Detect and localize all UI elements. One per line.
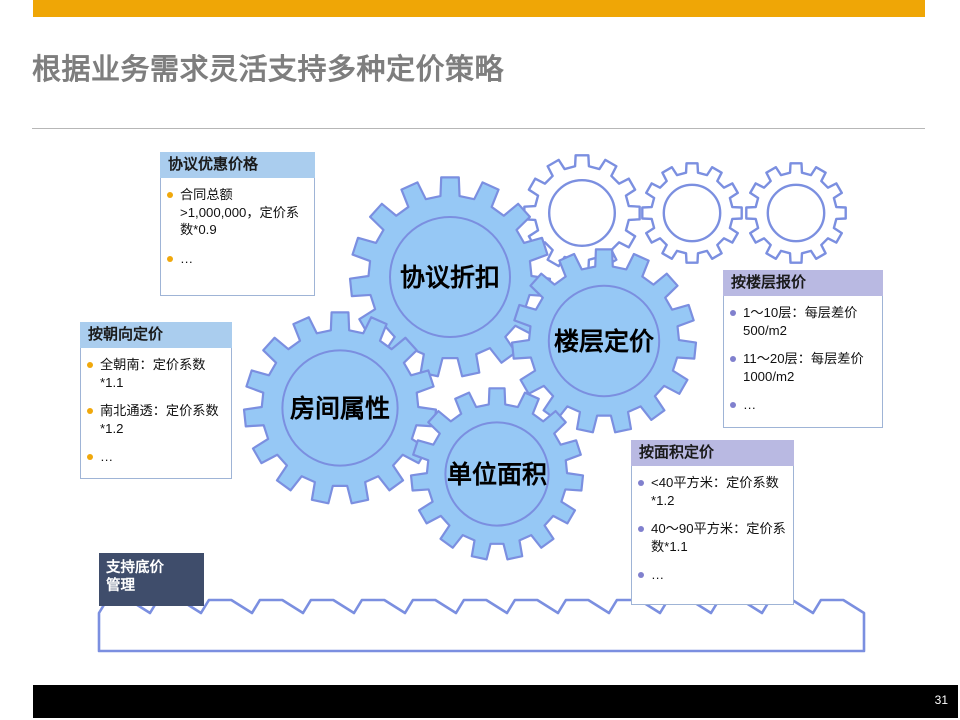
card-bullet-list: <40平方米：定价系数*1.2 40～90平方米：定价系数*1.1 …: [636, 474, 787, 584]
card-floor-price[interactable]: 按楼层报价 1～10层：每层差价500/m2 11～20层：每层差价1000/m…: [723, 270, 883, 428]
card-header: 按面积定价: [631, 440, 794, 466]
list-item: 全朝南：定价系数*1.1: [85, 356, 225, 391]
list-item: …: [85, 448, 225, 466]
list-item: …: [728, 396, 876, 414]
card-bullet-list: 全朝南：定价系数*1.1 南北通透：定价系数*1.2 …: [85, 356, 225, 466]
list-item: 11～20层：每层差价1000/m2: [728, 350, 876, 385]
bottom-bar: 31: [33, 685, 958, 718]
list-item: …: [165, 250, 308, 268]
card-body: <40平方米：定价系数*1.2 40～90平方米：定价系数*1.1 …: [631, 466, 794, 605]
list-item: <40平方米：定价系数*1.2: [636, 474, 787, 509]
list-item: 合同总额>1,000,000，定价系数*0.9: [165, 186, 308, 239]
gear-label: 楼层定价: [554, 327, 655, 356]
list-item: 40～90平方米：定价系数*1.1: [636, 520, 787, 555]
gear-outline: [642, 163, 741, 262]
gear-label: 单位面积: [447, 460, 547, 489]
card-bullet-list: 合同总额>1,000,000，定价系数*0.9 …: [165, 186, 308, 267]
card-header: 按楼层报价: [723, 270, 883, 296]
card-bullet-list: 1～10层：每层差价500/m2 11～20层：每层差价1000/m2 …: [728, 304, 876, 414]
card-orientation-price[interactable]: 按朝向定价 全朝南：定价系数*1.1 南北通透：定价系数*1.2 …: [80, 322, 232, 479]
gear-rack: [99, 600, 864, 651]
card-body: 全朝南：定价系数*1.1 南北通透：定价系数*1.2 …: [80, 348, 232, 479]
list-item: …: [636, 566, 787, 584]
base-price-box[interactable]: 支持底价 管理: [99, 553, 204, 606]
gear-label: 房间属性: [290, 394, 390, 423]
card-body: 1～10层：每层差价500/m2 11～20层：每层差价1000/m2 …: [723, 296, 883, 428]
slide-canvas: 根据业务需求灵活支持多种定价策略 协议折扣楼层定价房间属性单位面积 协议优惠价格…: [0, 0, 960, 720]
list-item: 1～10层：每层差价500/m2: [728, 304, 876, 339]
card-area-price[interactable]: 按面积定价 <40平方米：定价系数*1.2 40～90平方米：定价系数*1.1 …: [631, 440, 794, 605]
page-number: 31: [935, 693, 948, 707]
gear-outline: [746, 163, 845, 262]
card-agreement-price[interactable]: 协议优惠价格 合同总额>1,000,000，定价系数*0.9 …: [160, 152, 315, 296]
card-header: 按朝向定价: [80, 322, 232, 348]
list-item: 南北通透：定价系数*1.2: [85, 402, 225, 437]
card-header: 协议优惠价格: [160, 152, 315, 178]
gear-label: 协议折扣: [400, 264, 500, 292]
card-body: 合同总额>1,000,000，定价系数*0.9 …: [160, 178, 315, 296]
